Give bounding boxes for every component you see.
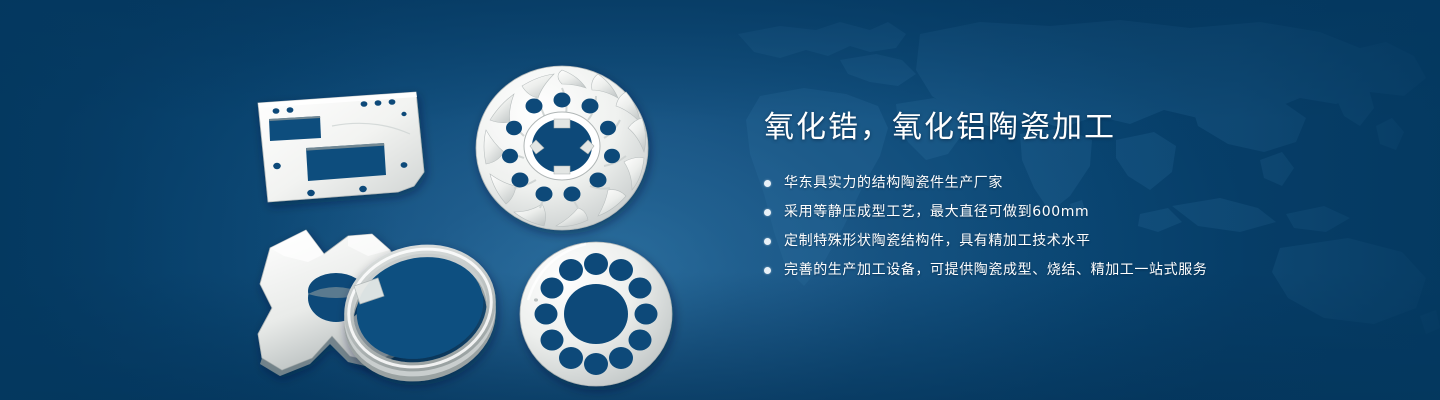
bullet-dot-icon [764, 180, 771, 187]
list-item: 华东具实力的结构陶瓷件生产厂家 [764, 171, 1384, 195]
feature-text: 采用等静压成型工艺，最大直径可做到600mm [784, 200, 1089, 224]
ceramic-perforated-disc [520, 242, 672, 386]
list-item: 采用等静压成型工艺，最大直径可做到600mm [764, 200, 1384, 224]
feature-list: 华东具实力的结构陶瓷件生产厂家 采用等静压成型工艺，最大直径可做到600mm 定… [764, 171, 1384, 282]
feature-text: 华东具实力的结构陶瓷件生产厂家 [784, 171, 1003, 195]
feature-text: 完善的生产加工设备，可提供陶瓷成型、烧结、精加工一站式服务 [784, 258, 1207, 282]
bullet-dot-icon [764, 238, 771, 245]
list-item: 定制特殊形状陶瓷结构件，具有精加工技术水平 [764, 229, 1384, 253]
ceramic-impeller-disc [476, 66, 648, 230]
product-banner: 氧化锆，氧化铝陶瓷加工 华东具实力的结构陶瓷件生产厂家 采用等静压成型工艺，最大… [0, 0, 1440, 400]
banner-copy: 氧化锆，氧化铝陶瓷加工 华东具实力的结构陶瓷件生产厂家 采用等静压成型工艺，最大… [764, 108, 1384, 287]
bullet-dot-icon [764, 267, 771, 274]
page-title: 氧化锆，氧化铝陶瓷加工 [764, 108, 1384, 148]
ceramic-machined-plate [258, 92, 424, 202]
ceramic-products-image [228, 40, 728, 380]
list-item: 完善的生产加工设备，可提供陶瓷成型、烧结、精加工一站式服务 [764, 258, 1384, 282]
bullet-dot-icon [764, 209, 771, 216]
feature-text: 定制特殊形状陶瓷结构件，具有精加工技术水平 [784, 229, 1091, 253]
